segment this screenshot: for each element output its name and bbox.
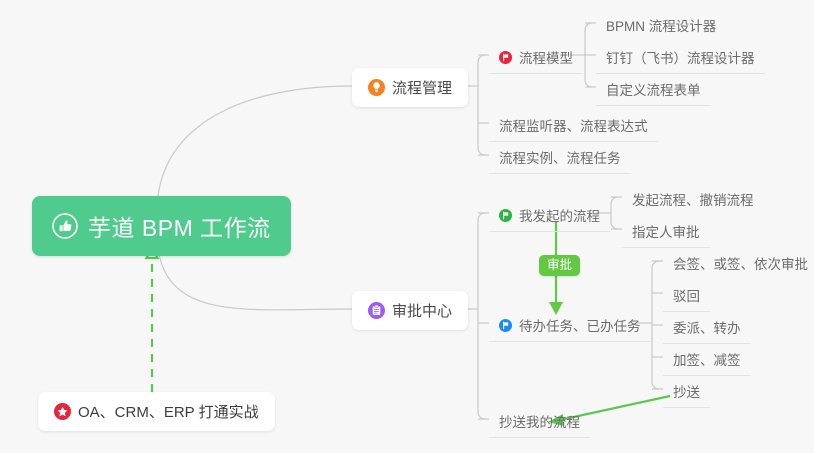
- link-ac-bracket: [478, 213, 485, 419]
- branch-node-approval-center[interactable]: 审批中心: [352, 291, 468, 330]
- link-model-bracket: [585, 23, 592, 87]
- thumbs-up-icon: [52, 213, 78, 239]
- branch-label: 审批中心: [392, 300, 452, 321]
- clipboard-icon: [368, 302, 385, 319]
- node-label: 发起流程、撤销流程: [632, 189, 754, 209]
- link-tasks-bracket: [652, 261, 659, 389]
- node-label: 加签、减签: [673, 349, 741, 369]
- star-icon: [54, 403, 71, 420]
- approval-flow-tag: 审批: [539, 255, 580, 276]
- node-custom-form[interactable]: 自定义流程表单: [596, 74, 711, 106]
- node-delegate-transfer[interactable]: 委派、转办: [663, 312, 751, 344]
- node-assigned-approval[interactable]: 指定人审批: [622, 216, 710, 248]
- node-label: 流程实例、流程任务: [499, 147, 621, 167]
- node-label: 钉钉（飞书）流程设计器: [606, 47, 755, 67]
- node-label: 委派、转办: [673, 317, 741, 337]
- link-mystarted-bracket: [611, 197, 618, 229]
- node-process-model[interactable]: 流程模型: [489, 42, 583, 74]
- flag-icon: [499, 209, 512, 222]
- node-label: 流程模型: [519, 47, 573, 67]
- node-add-remove-sign[interactable]: 加签、减签: [663, 344, 751, 376]
- node-label: 指定人审批: [632, 221, 700, 241]
- node-cc-to-me-process[interactable]: 抄送我的流程: [489, 406, 590, 438]
- link-root-to-process-management: [158, 86, 352, 196]
- node-label: 流程监听器、流程表达式: [499, 115, 648, 135]
- node-label: 待办任务、已办任务: [519, 315, 641, 335]
- note-node-integration[interactable]: OA、CRM、ERP 打通实战: [38, 392, 275, 431]
- node-reject[interactable]: 驳回: [663, 280, 710, 312]
- arrow-note-to-root: [147, 246, 158, 392]
- node-label: 抄送: [673, 381, 700, 401]
- link-root-to-approval-center: [158, 248, 352, 310]
- mindmap-canvas: 芋道 BPM 工作流 流程管理 流程模型 BPMN 流程设计器 钉钉（飞书）流程: [0, 0, 814, 453]
- branch-node-process-management[interactable]: 流程管理: [352, 68, 468, 107]
- node-countersign[interactable]: 会签、或签、依次审批: [663, 248, 814, 279]
- flag-icon: [499, 319, 512, 332]
- node-todo-done-tasks[interactable]: 待办任务、已办任务: [489, 310, 651, 342]
- node-start-cancel-process[interactable]: 发起流程、撤销流程: [622, 184, 764, 215]
- root-node[interactable]: 芋道 BPM 工作流: [32, 196, 291, 256]
- node-label: 自定义流程表单: [606, 79, 701, 99]
- lightbulb-icon: [368, 79, 385, 96]
- node-label: 驳回: [673, 285, 700, 305]
- flag-icon: [499, 51, 512, 64]
- node-cc[interactable]: 抄送: [663, 376, 710, 408]
- node-bpmn-designer[interactable]: BPMN 流程设计器: [596, 10, 726, 41]
- node-label: BPMN 流程设计器: [606, 15, 716, 35]
- link-pm-bracket: [478, 55, 485, 155]
- node-dingtalk-designer[interactable]: 钉钉（飞书）流程设计器: [596, 42, 765, 74]
- node-my-started-processes[interactable]: 我发起的流程: [489, 200, 610, 232]
- node-label: 抄送我的流程: [499, 411, 580, 431]
- node-label: 会签、或签、依次审批: [673, 253, 808, 273]
- node-label: 我发起的流程: [519, 205, 600, 225]
- root-label: 芋道 BPM 工作流: [88, 209, 271, 243]
- note-label: OA、CRM、ERP 打通实战: [78, 401, 259, 422]
- node-instance-task[interactable]: 流程实例、流程任务: [489, 142, 631, 174]
- node-listener-expression[interactable]: 流程监听器、流程表达式: [489, 110, 658, 142]
- branch-label: 流程管理: [392, 77, 452, 98]
